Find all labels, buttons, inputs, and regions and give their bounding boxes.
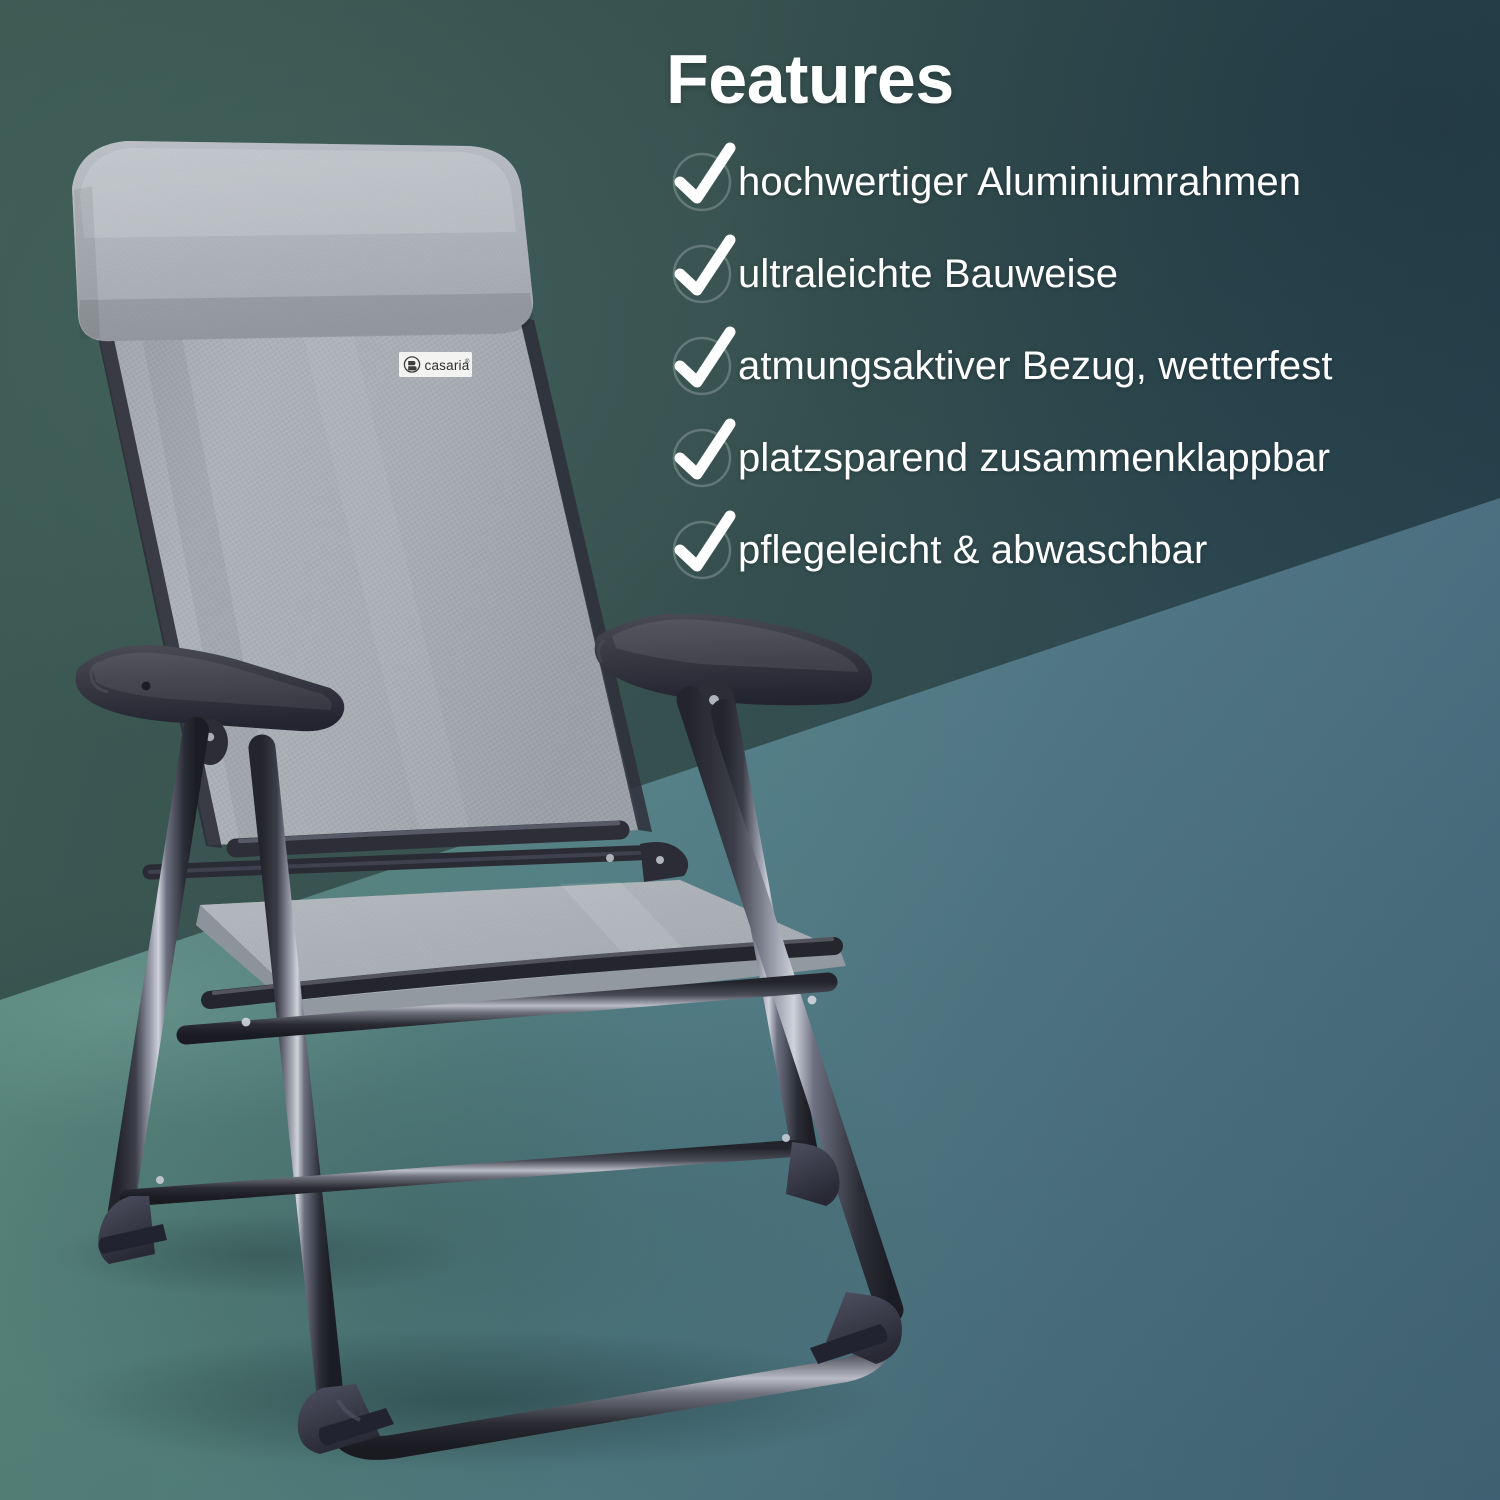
feature-label: hochwertiger Aluminiumrahmen [738,159,1301,205]
seat-pivot-bracket [640,842,688,882]
feature-label: atmungsaktiver Bezug, wetterfest [738,343,1333,389]
check-circle-icon [666,238,738,310]
marketing-banner: casaria ® [0,0,1500,1500]
features-list: hochwertiger Aluminiumrahmen ultraleicht… [666,136,1476,596]
check-circle-icon [666,146,738,218]
feature-item: hochwertiger Aluminiumrahmen [666,136,1476,228]
chair-leg-rear-left [118,730,196,1230]
feature-item: pflegeleicht & abwaschbar [666,504,1476,596]
feature-label: pflegeleicht & abwaschbar [738,527,1207,573]
chair-foot-front-right [810,1292,902,1364]
check-circle-icon [666,330,738,402]
chair-rear-crossbar [128,1148,800,1198]
chair-headrest [72,141,533,341]
chair-leg-front-right [690,700,890,1310]
feature-item: ultraleichte Bauweise [666,228,1476,320]
feature-item: atmungsaktiver Bezug, wetterfest [666,320,1476,412]
brand-label: casaria ® [399,352,472,377]
check-circle-icon [666,422,738,494]
svg-text:casaria: casaria [425,358,470,373]
svg-text:®: ® [465,359,470,366]
check-circle-icon [666,514,738,586]
feature-label: ultraleichte Bauweise [738,251,1118,297]
feature-label: platzsparend zusammenklappbar [738,435,1330,481]
chair-rear-frame [150,852,660,872]
chair-armrest-right [595,613,872,705]
features-panel: Features hochwertiger Aluminiumrahmen [666,44,1476,596]
feature-item: platzsparend zusammenklappbar [666,412,1476,504]
page-title: Features [666,44,1476,114]
